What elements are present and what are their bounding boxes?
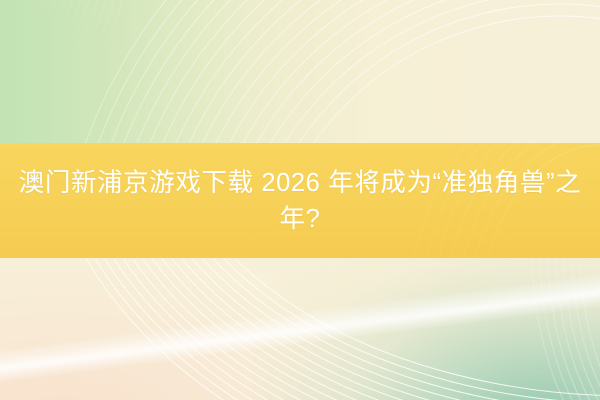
headline-band: 澳门新浦京游戏下载 2026 年将成为“准独角兽”之年? [0, 143, 600, 258]
promo-banner: 澳门新浦京游戏下载 2026 年将成为“准独角兽”之年? [0, 0, 600, 400]
page-title: 澳门新浦京游戏下载 2026 年将成为“准独角兽”之年? [8, 165, 592, 237]
